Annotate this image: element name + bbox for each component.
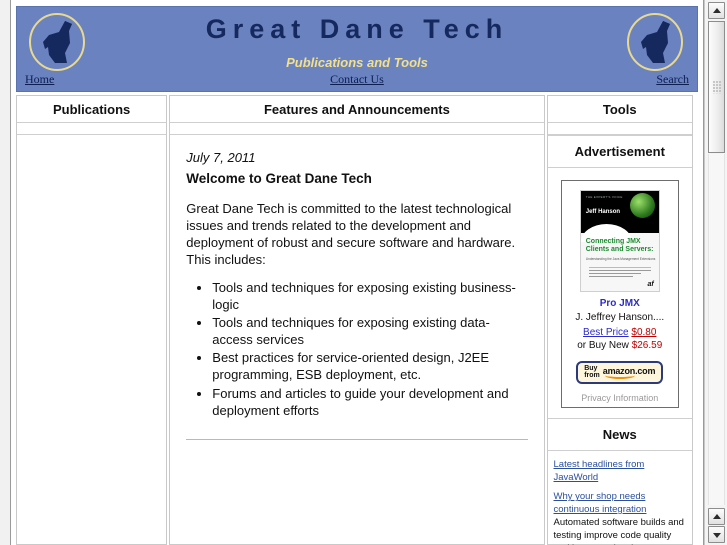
column-features: Features and Announcements July 7, 2011 … (169, 95, 544, 545)
article-intro: Great Dane Tech is committed to the late… (186, 200, 527, 269)
article-divider (186, 439, 527, 440)
chevron-up-icon (713, 8, 721, 13)
list-item: Tools and techniques for exposing existi… (212, 279, 527, 313)
vertical-scrollbar[interactable] (704, 0, 727, 545)
news-item-summary: Automated software builds and testing im… (554, 517, 687, 545)
chevron-up-icon (713, 514, 721, 519)
browser-viewport: Great Dane Tech Publications and Tools H… (0, 0, 727, 545)
chevron-down-icon (713, 533, 721, 538)
ad-product-title[interactable]: Pro JMX (565, 298, 675, 309)
content-grid: Publications Features and Announcements … (16, 95, 693, 545)
site-subtitle: Publications and Tools (17, 55, 697, 70)
primary-nav: Home Contact Us Search (17, 72, 697, 89)
buy-from-text: Buy from (584, 365, 600, 380)
scrollbar-thumb[interactable] (708, 21, 725, 153)
advertisement-header: Advertisement (548, 135, 693, 168)
publications-subbar (17, 123, 166, 135)
ad-privacy-information[interactable]: Privacy Information (565, 391, 675, 403)
list-item: Why your shop needs continuous integrati… (554, 491, 687, 545)
site-title: Great Dane Tech (17, 14, 697, 45)
book-cover-imprint: af (648, 281, 654, 288)
news-source-link[interactable]: Latest headlines from JavaWorld (554, 459, 687, 485)
book-cover-publisher-tag: THE EXPERT'S VOICE (586, 195, 623, 199)
book-cover-sphere-graphic (630, 193, 655, 218)
list-item: Tools and techniques for exposing existi… (212, 314, 527, 348)
tools-subbar (548, 123, 693, 135)
nav-link-search[interactable]: Search (656, 72, 689, 87)
buy-label: Buy (584, 365, 597, 372)
article-headline: Welcome to Great Dane Tech (186, 170, 527, 188)
ad-buy-new-row: or Buy New $26.59 (565, 340, 675, 351)
news-header: News (548, 418, 693, 451)
column-header-features: Features and Announcements (170, 96, 543, 123)
news-body: Latest headlines from JavaWorld Why your… (548, 451, 693, 545)
list-item: Best practices for service-oriented desi… (212, 349, 527, 383)
ad-best-price-label[interactable]: Best Price (583, 327, 629, 338)
advertisement-block: THE EXPERT'S VOICE Jeff Hanson Connectin… (548, 168, 693, 418)
ad-product-title-link[interactable]: Pro JMX (600, 298, 640, 309)
from-label: from (584, 372, 600, 379)
column-header-tools: Tools (548, 96, 693, 123)
news-source-link-wrap: Latest headlines from JavaWorld (554, 459, 687, 485)
ad-product-author: J. Jeffrey Hanson.... (565, 312, 675, 323)
article-date: July 7, 2011 (186, 149, 527, 166)
amazon-logo: amazon.com (603, 366, 656, 379)
nav-link-contact[interactable]: Contact Us (330, 72, 384, 87)
ad-best-price-amount[interactable]: $0.80 (631, 327, 656, 338)
scroll-up-button-top[interactable] (708, 2, 725, 19)
book-cover-subtitle: Understanding the Java Management Extens… (586, 257, 656, 261)
site-banner: Great Dane Tech Publications and Tools H… (16, 6, 698, 92)
ad-buy-new-label: or Buy New (577, 340, 629, 351)
features-subbar (170, 123, 543, 135)
scroll-up-button-bottom[interactable] (708, 508, 725, 525)
features-body: July 7, 2011 Welcome to Great Dane Tech … (170, 135, 543, 446)
book-cover-bullet-lines (589, 267, 651, 279)
buy-from-amazon-button[interactable]: Buy from amazon.com (576, 361, 663, 384)
news-item-title-link[interactable]: Why your shop needs continuous integrati… (554, 491, 687, 517)
book-cover-title: Connecting JMX Clients and Servers: (586, 238, 659, 254)
ad-best-price-row[interactable]: Best Price $0.80 (565, 327, 675, 338)
column-header-publications: Publications (17, 96, 166, 123)
great-dane-head-logo-right (623, 11, 687, 73)
article-welcome: July 7, 2011 Welcome to Great Dane Tech … (170, 135, 543, 446)
scrollbar-track[interactable] (708, 154, 725, 505)
ad-buy-new-amount: $26.59 (632, 340, 663, 351)
scrollbar-grip-icon (712, 81, 721, 94)
column-tools: Tools Advertisement THE EXPERT'S VOICE J… (547, 95, 694, 545)
column-publications: Publications (16, 95, 167, 545)
book-cover-image: THE EXPERT'S VOICE Jeff Hanson Connectin… (580, 190, 660, 292)
amazon-smile-icon (605, 372, 635, 379)
amazon-tld-text: .com (635, 366, 655, 376)
amazon-ad-card[interactable]: THE EXPERT'S VOICE Jeff Hanson Connectin… (561, 180, 679, 408)
nav-link-home[interactable]: Home (25, 72, 54, 87)
article-bullet-list: Tools and techniques for exposing existi… (186, 279, 527, 419)
page-content-area: Great Dane Tech Publications and Tools H… (10, 0, 704, 545)
scroll-down-button[interactable] (708, 526, 725, 543)
list-item: Forums and articles to guide your develo… (212, 385, 527, 419)
book-cover-author: Jeff Hanson (586, 209, 620, 215)
